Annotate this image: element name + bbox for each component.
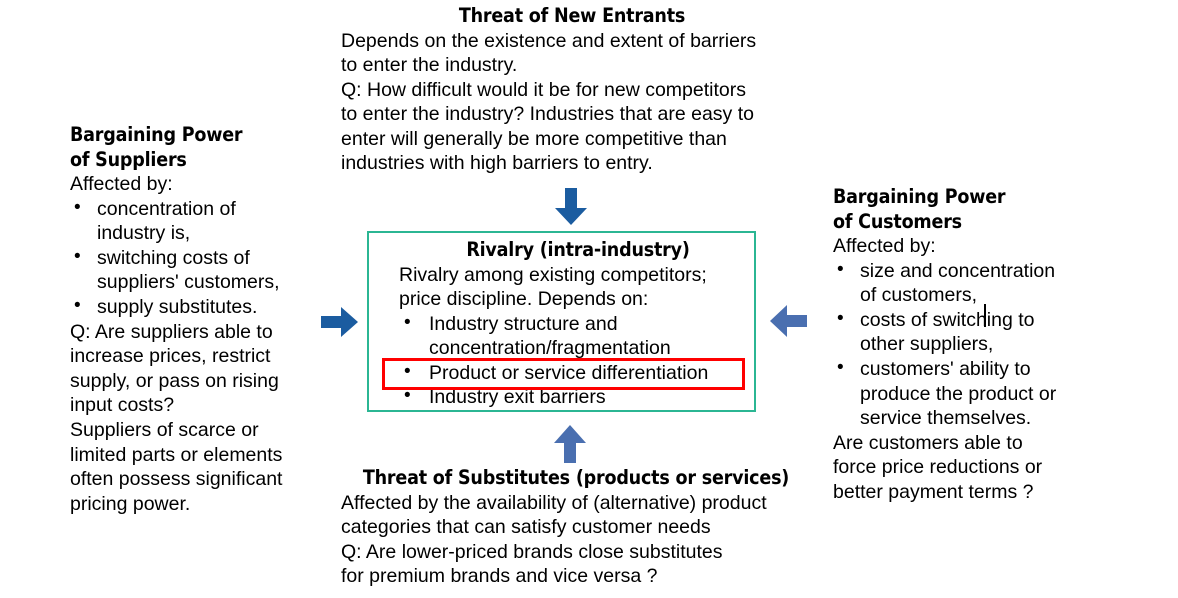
arrow-down-icon xyxy=(553,188,589,226)
customers-heading-line-1: Bargaining Power xyxy=(833,185,1099,210)
force-block-substitutes: Threat of Substitutes (products or servi… xyxy=(341,466,811,589)
rivalry-heading: Rivalry (intra-industry) xyxy=(407,238,749,263)
rivalry-box: Rivalry (intra-industry) Rivalry among e… xyxy=(367,231,756,412)
list-item: concentration of industry is, xyxy=(70,197,332,246)
arrow-right-icon xyxy=(321,305,359,339)
new-entrants-line: industries with high barriers to entry. xyxy=(341,151,803,176)
rivalry-content: Rivalry (intra-industry) Rivalry among e… xyxy=(399,238,749,410)
text-cursor-caret xyxy=(984,304,986,327)
suppliers-line: Suppliers of scarce or xyxy=(70,418,332,443)
list-item: switching costs of suppliers' customers, xyxy=(70,246,332,295)
new-entrants-heading: Threat of New Entrants xyxy=(341,4,803,29)
customers-heading-line-2: of Customers xyxy=(833,210,1099,235)
force-block-customers: Bargaining Power of Customers Affected b… xyxy=(833,185,1099,505)
five-forces-diagram: Threat of New Entrants Depends on the ex… xyxy=(0,0,1178,598)
force-block-suppliers: Bargaining Power of Suppliers Affected b… xyxy=(70,123,332,516)
suppliers-line: Q: Are suppliers able to xyxy=(70,320,332,345)
new-entrants-line: Depends on the existence and extent of b… xyxy=(341,29,803,54)
rivalry-line: price discipline. Depends on: xyxy=(399,287,749,312)
force-block-new-entrants: Threat of New Entrants Depends on the ex… xyxy=(341,4,803,176)
list-item: supply substitutes. xyxy=(70,295,332,320)
new-entrants-line: to enter the industry. xyxy=(341,53,803,78)
customers-bullet-list: size and concentration of customers, cos… xyxy=(833,259,1099,431)
list-item: size and concentration of customers, xyxy=(833,259,1099,308)
suppliers-line: input costs? xyxy=(70,393,332,418)
customers-line: better payment terms ? xyxy=(833,480,1099,505)
list-item: costs of switching to other suppliers, xyxy=(833,308,1099,357)
list-item: customers' ability to produce the produc… xyxy=(833,357,1099,431)
arrow-left-icon xyxy=(769,303,807,339)
new-entrants-line: to enter the industry? Industries that a… xyxy=(341,102,803,127)
customers-line: Are customers able to xyxy=(833,431,1099,456)
suppliers-heading-line-1: Bargaining Power xyxy=(70,123,332,148)
suppliers-line: supply, or pass on rising xyxy=(70,369,332,394)
customers-line: force price reductions or xyxy=(833,455,1099,480)
new-entrants-line: Q: How difficult would it be for new com… xyxy=(341,78,803,103)
suppliers-line: increase prices, restrict xyxy=(70,344,332,369)
rivalry-line: Rivalry among existing competitors; xyxy=(399,263,749,288)
suppliers-line: often possess significant xyxy=(70,467,332,492)
substitutes-line: categories that can satisfy customer nee… xyxy=(341,515,811,540)
suppliers-line: pricing power. xyxy=(70,492,332,517)
substitutes-line: Q: Are lower-priced brands close substit… xyxy=(341,540,811,565)
arrow-up-icon xyxy=(552,424,588,464)
substitutes-heading: Threat of Substitutes (products or servi… xyxy=(341,466,811,491)
substitutes-line: for premium brands and vice versa ? xyxy=(341,564,811,589)
suppliers-affected-by-label: Affected by: xyxy=(70,172,332,197)
suppliers-bullet-list: concentration of industry is, switching … xyxy=(70,197,332,320)
list-item-highlighted: Product or service differentiation xyxy=(399,361,749,386)
suppliers-heading-line-2: of Suppliers xyxy=(70,148,332,173)
list-item: Industry exit barriers xyxy=(399,385,749,410)
new-entrants-line: enter will generally be more competitive… xyxy=(341,127,803,152)
rivalry-bullet-list: Industry structure and concentration/fra… xyxy=(399,312,749,410)
substitutes-line: Affected by the availability of (alterna… xyxy=(341,491,811,516)
customers-affected-by-label: Affected by: xyxy=(833,234,1099,259)
list-item: Industry structure and concentration/fra… xyxy=(399,312,749,361)
suppliers-line: limited parts or elements xyxy=(70,443,332,468)
